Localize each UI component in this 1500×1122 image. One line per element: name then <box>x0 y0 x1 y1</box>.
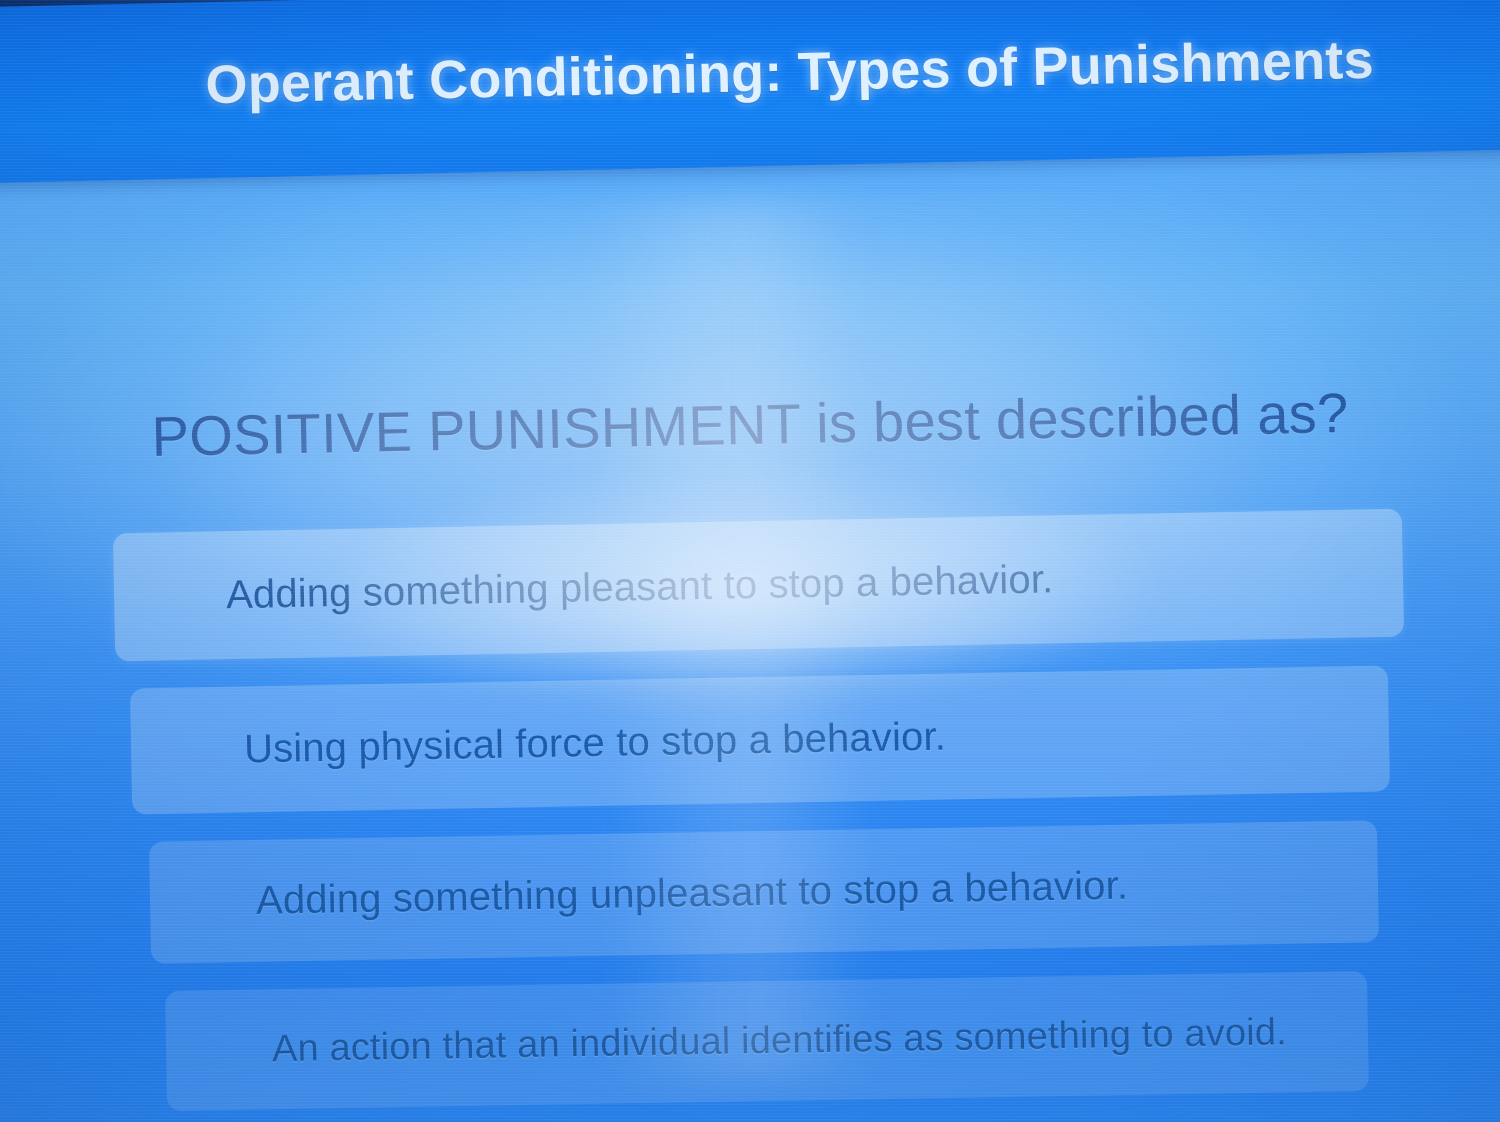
answer-option-label: An action that an individual identifies … <box>272 1011 1287 1071</box>
answer-option-2[interactable]: Using physical force to stop a behavior. <box>130 665 1390 814</box>
answer-option-label: Adding something unpleasant to stop a be… <box>256 863 1129 923</box>
answer-option-4[interactable]: An action that an individual identifies … <box>165 971 1369 1111</box>
answer-option-1[interactable]: Adding something pleasant to stop a beha… <box>113 509 1404 662</box>
answer-option-label: Adding something pleasant to stop a beha… <box>226 557 1054 618</box>
answer-option-label: Using physical force to stop a behavior. <box>244 714 947 772</box>
answer-options-list: Adding something pleasant to stop a beha… <box>0 0 1500 1122</box>
quiz-screen: Operant Conditioning: Types of Punishmen… <box>0 0 1500 1122</box>
answer-option-3[interactable]: Adding something unpleasant to stop a be… <box>149 820 1379 963</box>
